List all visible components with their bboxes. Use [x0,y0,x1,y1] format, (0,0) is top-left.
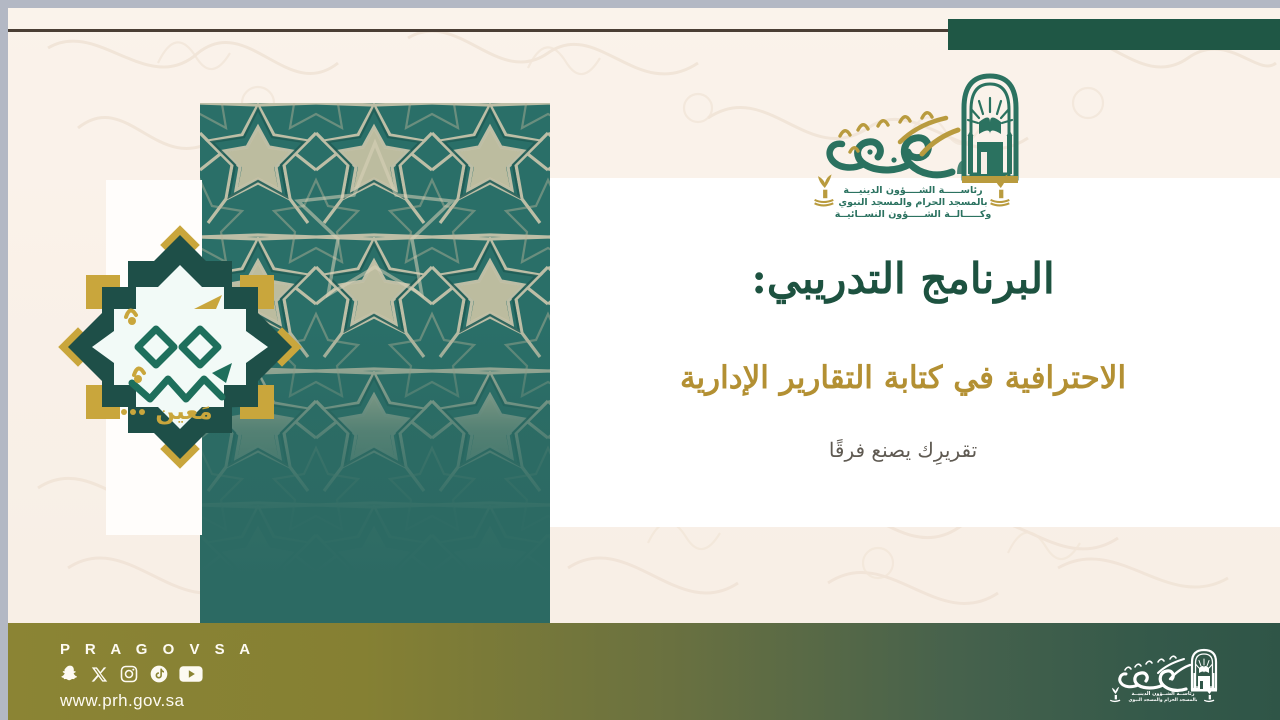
title-block: البرنامج التدريبي: الاحترافية في كتابة ا… [553,253,1253,523]
instagram-icon[interactable] [119,664,139,684]
snapchat-icon[interactable] [60,664,80,684]
top-green-tab [948,19,1280,50]
top-divider-rule [8,29,950,32]
haramain-logo: رئاســـــة الشــــؤون الدينيـــة بالمسجد… [804,60,1022,220]
page-tagline: تقريرِك يصنع فرقًا [553,438,1253,462]
youtube-icon[interactable] [179,664,203,684]
maeen-emblem-label: مَعين [155,399,212,425]
social-links-row [60,664,360,684]
haramain-logo-footer: رئاســة الشــؤون الدينيــة بالمسجد الحرا… [1106,645,1224,705]
logo-text-line2: بالمسجد الحرام والمسجد النبوي [838,197,987,208]
x-twitter-icon[interactable] [90,665,109,684]
haramain-calligraphy [830,113,958,175]
footer-bar: P R A G O V S A [8,623,1280,720]
logo-text-line1: رئاســـــة الشــــؤون الدينيـــة [843,185,982,196]
haramain-logo-graphic: رئاســـــة الشــــؤون الدينيـــة بالمسجد… [804,60,1022,220]
page-title: البرنامج التدريبي: [553,253,1253,306]
haramain-calligraphy-footer [1120,656,1190,690]
footer-contact-group: P R A G O V S A [60,641,360,711]
page-subtitle: الاحترافية في كتابة التقارير الإدارية [553,358,1253,398]
tiktok-icon[interactable] [149,664,169,684]
footer-logo-text-line1: رئاســة الشــؤون الدينيــة [1132,691,1195,697]
logo-text-line3: وكـــــالــة الشـــــؤون النســائيــة [835,209,992,220]
maeen-emblem: مَعين [46,213,314,481]
slide-canvas: مَعين [8,8,1280,720]
maeen-emblem-graphic: مَعين [46,213,314,481]
footer-website-url[interactable]: www.prh.gov.sa [60,691,360,711]
haramain-logo-footer-graphic: رئاســة الشــؤون الدينيــة بالمسجد الحرا… [1106,645,1224,705]
footer-brand-handle: P R A G O V S A [60,641,360,658]
footer-logo-text-line2: بالمسجد الحرام والمسجد النبوي [1129,698,1198,703]
slide-frame: مَعين [0,0,1280,720]
